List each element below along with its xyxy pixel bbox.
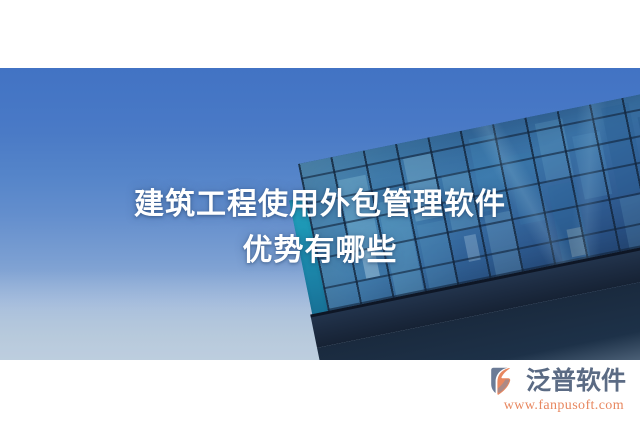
brand-logo[interactable]: 泛普软件 www.fanpusoft.com: [487, 366, 626, 420]
glass-pane: [548, 181, 591, 263]
window-glint: [567, 227, 588, 258]
promo-banner: 建筑工程使用外包管理软件 优势有哪些 泛普软件 www.fanpusoft.co…: [0, 0, 640, 427]
glass-pane: [403, 153, 443, 221]
brand-website[interactable]: www.fanpusoft.com: [504, 397, 624, 415]
glass-pane: [377, 197, 424, 297]
hero-photo: [0, 68, 640, 360]
glass-pane: [484, 210, 524, 276]
glass-pane: [535, 118, 574, 182]
glass-pane: [469, 134, 511, 212]
glass-pane: [572, 131, 612, 199]
glass-pane: [417, 220, 458, 290]
glass-pane: [507, 151, 548, 225]
letterbox-top: [0, 0, 640, 68]
window-glint: [464, 234, 481, 262]
brand-name: 泛普软件: [526, 366, 626, 396]
glass-pane: [441, 170, 480, 232]
glass-pane: [619, 193, 640, 250]
glass-pane: [338, 175, 382, 261]
logo-row: 泛普软件: [487, 366, 626, 396]
window-glint: [360, 247, 380, 279]
glass-pane: [601, 103, 640, 195]
fanpu-f-mark-icon: [487, 366, 521, 396]
